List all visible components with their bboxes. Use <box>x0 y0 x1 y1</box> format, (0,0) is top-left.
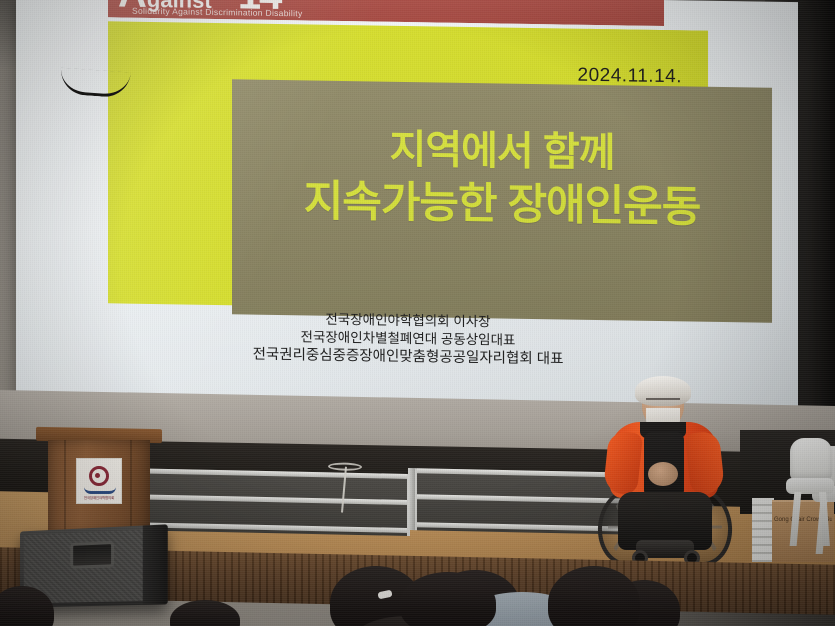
conference-hall-scene: Against14 Solidarity Against Discriminat… <box>0 0 835 626</box>
chair-leg-right-1 <box>819 492 830 546</box>
rail-panel-left <box>128 468 410 536</box>
slide-title: 지역에서 함께 지속가능한 장애인운동 <box>232 125 772 232</box>
projected-slide: Against14 Solidarity Against Discriminat… <box>16 0 798 426</box>
audience-head-7 <box>400 572 496 626</box>
rail-post-center <box>408 468 415 530</box>
organization-logo-icon <box>89 466 109 486</box>
slide-affiliations: 전국장애인야학협의회 이사장 전국장애인차별철폐연대 공동상임대표 전국권리중심… <box>108 307 708 371</box>
chair-backrest-1 <box>790 438 832 480</box>
person-hands <box>648 462 678 486</box>
person-arm-right <box>685 430 725 495</box>
logo-wave-icon <box>84 487 116 494</box>
person-glasses <box>646 398 680 405</box>
title-line-1: 지역에서 함께 <box>232 125 772 178</box>
projection-screen: Against14 Solidarity Against Discriminat… <box>16 0 798 426</box>
slide-title-box: 지역에서 함께 지속가능한 장애인운동 <box>232 79 772 322</box>
audience-head-6 <box>548 566 640 626</box>
title-line-2: 지속가능한 장애인운동 <box>232 176 772 233</box>
chair-leg-left-1 <box>790 492 802 546</box>
chair-seat-1 <box>786 478 834 494</box>
slide-yellow-frame: 2024.11.14. 지역에서 함께 지속가능한 장애인운동 <box>108 21 708 312</box>
audience-head-1 <box>0 586 54 626</box>
audience-head-3 <box>170 600 240 626</box>
podium-plaque: 전국장애인야학협의회 <box>76 458 122 504</box>
rail-bar-mid <box>131 494 407 505</box>
white-plastic-chair-1 <box>786 438 832 546</box>
plaque-caption: 전국장애인야학협의회 <box>77 495 121 500</box>
banner-subtitle: Solidarity Against Discrimination Disabi… <box>132 6 303 19</box>
stacked-items <box>752 498 774 562</box>
audience-silhouettes <box>0 556 835 626</box>
